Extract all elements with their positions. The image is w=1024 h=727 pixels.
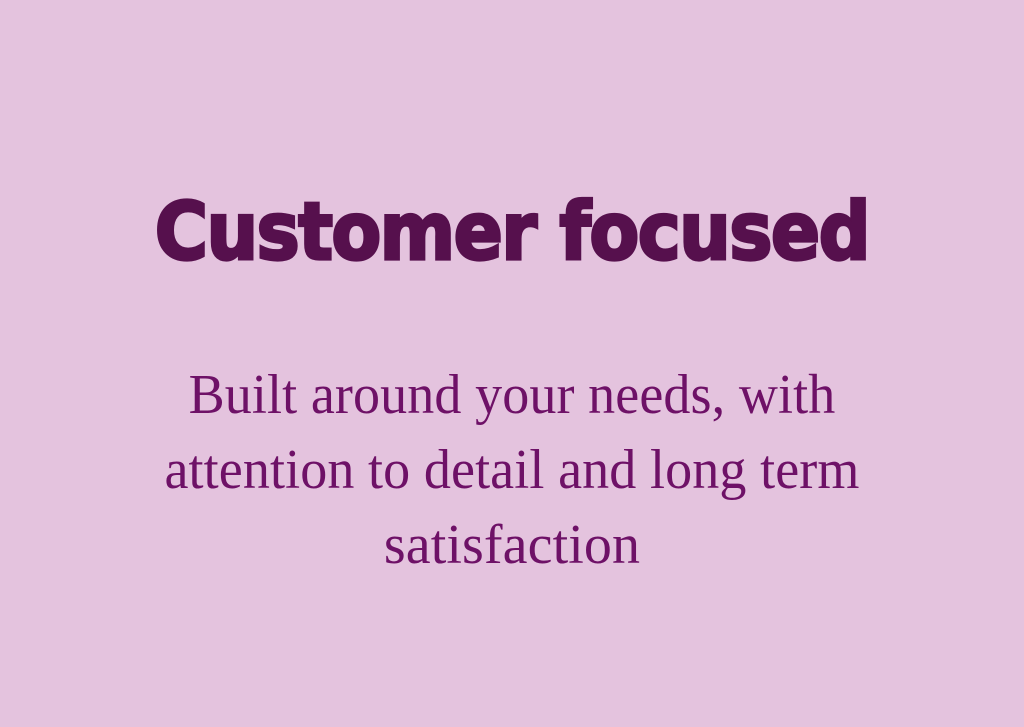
- subtitle-line: satisfaction: [72, 508, 952, 583]
- slide-subtitle: Built around your needs, with attention …: [72, 358, 952, 583]
- subtitle-line: Built around your needs, with: [87, 358, 936, 433]
- subtitle-line: attention to detail and long term: [87, 433, 936, 508]
- page-title: Customer focused: [44, 186, 981, 278]
- slide-canvas: Customer focused Built around your needs…: [0, 0, 1024, 727]
